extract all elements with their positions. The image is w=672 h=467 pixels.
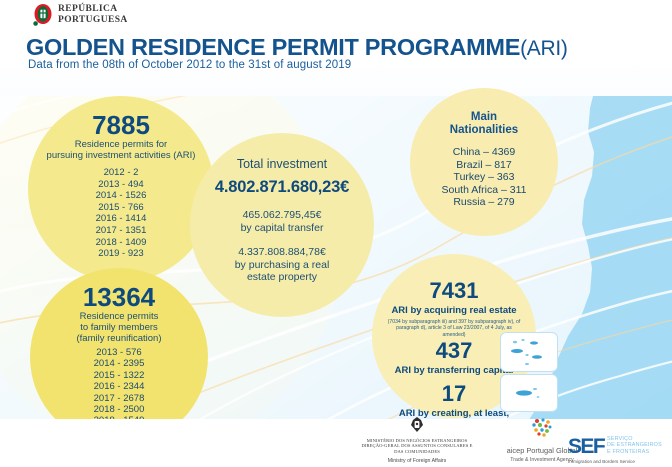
sef-wordmark: SEF xyxy=(568,436,604,457)
list-item: 2017 - 1351 xyxy=(96,225,147,237)
list-item: China – 4369 xyxy=(441,146,526,159)
sef-name-line-3: E FRONTEIRAS xyxy=(607,449,662,455)
list-item: 2015 - 766 xyxy=(96,202,147,214)
list-item: 2016 - 2344 xyxy=(94,381,145,392)
title-suffix: (ARI) xyxy=(520,37,568,60)
aicep-dots-logo-icon xyxy=(529,417,555,441)
list-item: 2018 - 2500 xyxy=(94,404,145,415)
footer-sef-logo: SEF SERVIÇO DE ESTRANGEIROS E FRONTEIRAS… xyxy=(568,436,672,464)
sef-full-name: SERVIÇO DE ESTRANGEIROS E FRONTEIRAS xyxy=(607,436,662,455)
title-main: GOLDEN RESIDENCE PERMIT PROGRAMME xyxy=(26,34,520,60)
list-item: 2014 - 2395 xyxy=(94,358,145,369)
list-item: 2017 - 2678 xyxy=(94,393,145,404)
madeira-islands-inset xyxy=(500,374,558,412)
list-item: Turkey – 363 xyxy=(441,171,526,184)
page-title: GOLDEN RESIDENCE PERMIT PROGRAMME(ARI) xyxy=(26,34,568,61)
list-item: 2016 - 1414 xyxy=(96,213,147,225)
family-permits-count: 13364 xyxy=(83,284,155,310)
republic-line-1: REPÚBLICA xyxy=(58,4,128,15)
main-nationalities-circle: Main Nationalities China – 4369 Brazil –… xyxy=(410,88,558,236)
list-item: 2013 - 494 xyxy=(96,179,147,191)
nationalities-heading: Main Nationalities xyxy=(450,111,518,137)
investment-realestate-block: 4.337.808.884,78€ by purchasing a real e… xyxy=(235,246,330,284)
portugal-coat-of-arms-icon xyxy=(404,416,430,433)
permits-circle: 7885 Residence permits for pursuing inve… xyxy=(28,96,214,282)
investment-label: Total investment xyxy=(237,157,327,171)
permits-count: 7885 xyxy=(92,112,150,138)
page-subtitle: Data from the 08th of October 2012 to th… xyxy=(28,59,351,71)
permits-caption-line-1: Residence permits for xyxy=(47,139,196,150)
list-item: 2018 - 1409 xyxy=(96,237,147,249)
family-year-list: 2013 - 576 2014 - 2395 2015 - 1322 2016 … xyxy=(94,347,145,427)
total-investment-circle: Total investment 4.802.871.680,23€ 465.0… xyxy=(190,133,374,317)
investment-total-value: 4.802.871.680,23€ xyxy=(215,178,349,197)
list-item: 2015 - 1322 xyxy=(94,370,145,381)
footer-ministry-logo: MINISTÉRIO DOS NEGÓCIOS ESTRANGEIROS DIR… xyxy=(352,416,482,464)
republic-line-2: PORTUGUESA xyxy=(58,15,128,26)
investment-capital-amount: 465.062.795,45€ xyxy=(241,209,324,222)
ari-capital-count: 437 xyxy=(436,338,473,364)
investment-capital-block: 465.062.795,45€ by capital transfer xyxy=(241,209,324,234)
list-item: 2012 - 2 xyxy=(96,167,147,179)
nationalities-heading-line-1: Main xyxy=(450,111,518,124)
nationalities-heading-line-2: Nationalities xyxy=(450,124,518,137)
azores-islands-inset xyxy=(500,332,558,372)
infographic-poster: REPÚBLICA PORTUGUESA GOLDEN RESIDENCE PE… xyxy=(0,0,672,467)
republic-wordmark: REPÚBLICA PORTUGUESA xyxy=(58,4,128,25)
list-item: South Africa – 311 xyxy=(441,184,526,197)
list-item: Brazil – 817 xyxy=(441,159,526,172)
investment-realestate-label-1: by purchasing a real xyxy=(235,259,330,272)
azores-islands-shape xyxy=(501,333,557,371)
madeira-islands-shape xyxy=(501,375,557,411)
list-item: 2013 - 576 xyxy=(94,347,145,358)
nationalities-list: China – 4369 Brazil – 817 Turkey – 363 S… xyxy=(441,146,526,209)
family-caption-line-1: Residence permits xyxy=(77,311,162,322)
investment-realestate-amount: 4.337.808.884,78€ xyxy=(235,246,330,259)
family-caption: Residence permits to family members (fam… xyxy=(77,311,162,344)
permits-caption: Residence permits for pursuing investmen… xyxy=(47,139,196,161)
investment-capital-label: by capital transfer xyxy=(241,222,324,235)
ari-jobs-count: 17 xyxy=(442,381,466,407)
list-item: 2019 - 923 xyxy=(96,248,147,260)
ari-capital-label: ARI by transferring capital xyxy=(395,365,514,376)
ministry-line-3: DAS COMUNIDADES xyxy=(352,449,482,455)
permits-year-list: 2012 - 2 2013 - 494 2014 - 1526 2015 - 7… xyxy=(96,167,147,260)
ari-realestate-label: ARI by acquiring real estate xyxy=(391,305,516,316)
family-caption-line-2: to family members xyxy=(77,322,162,333)
permits-caption-line-2: pursuing investment activities (ARI) xyxy=(47,150,196,161)
list-item: 2014 - 1526 xyxy=(96,190,147,202)
family-caption-line-3: (family reunification) xyxy=(77,333,162,344)
sef-name-line-2: DE ESTRANGEIROS xyxy=(607,442,662,448)
list-item: Russia – 279 xyxy=(441,196,526,209)
sef-english-name: Immigration and Borders Service xyxy=(568,459,672,464)
sef-logo-row: SEF SERVIÇO DE ESTRANGEIROS E FRONTEIRAS xyxy=(568,436,672,457)
ministry-english-name: Ministry of Foreign Affairs xyxy=(352,458,482,464)
ari-realestate-count: 7431 xyxy=(430,278,479,304)
portugal-coat-of-arms-icon xyxy=(33,3,53,27)
investment-realestate-label-2: estate property xyxy=(235,271,330,284)
